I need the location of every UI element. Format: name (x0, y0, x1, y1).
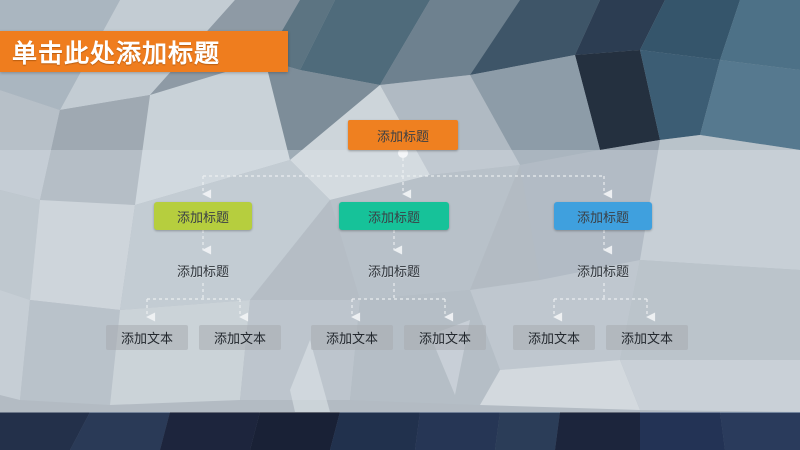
node-leaf-1a[interactable]: 添加文本 (106, 325, 188, 350)
node-root[interactable]: 添加标题 (348, 120, 458, 150)
node-subtitle-2-label: 添加标题 (368, 261, 420, 280)
slide-canvas: 单击此处添加标题 (0, 0, 800, 450)
node-leaf-1a-label: 添加文本 (121, 328, 173, 347)
node-subtitle-2[interactable]: 添加标题 (339, 259, 449, 281)
node-leaf-3a-label: 添加文本 (528, 328, 580, 347)
node-branch-3-label: 添加标题 (577, 207, 629, 226)
node-leaf-2b-label: 添加文本 (419, 328, 471, 347)
node-branch-1[interactable]: 添加标题 (154, 202, 252, 230)
node-branch-3[interactable]: 添加标题 (554, 202, 652, 230)
node-leaf-2a-label: 添加文本 (326, 328, 378, 347)
node-branch-1-label: 添加标题 (177, 207, 229, 226)
node-branch-2-label: 添加标题 (368, 207, 420, 226)
node-leaf-3a[interactable]: 添加文本 (513, 325, 595, 350)
node-subtitle-3[interactable]: 添加标题 (548, 259, 658, 281)
org-chart-diagram: 添加标题 添加标题 添加标题 添加标题 添加标题 添加标题 添加标题 添加文本 … (0, 0, 800, 450)
node-root-label: 添加标题 (377, 126, 429, 145)
node-leaf-3b[interactable]: 添加文本 (606, 325, 688, 350)
node-leaf-3b-label: 添加文本 (621, 328, 673, 347)
node-branch-2[interactable]: 添加标题 (339, 202, 449, 230)
node-leaf-2b[interactable]: 添加文本 (404, 325, 486, 350)
node-subtitle-1[interactable]: 添加标题 (148, 259, 258, 281)
node-subtitle-1-label: 添加标题 (177, 261, 229, 280)
node-subtitle-3-label: 添加标题 (577, 261, 629, 280)
node-leaf-1b-label: 添加文本 (214, 328, 266, 347)
node-leaf-1b[interactable]: 添加文本 (199, 325, 281, 350)
node-leaf-2a[interactable]: 添加文本 (311, 325, 393, 350)
